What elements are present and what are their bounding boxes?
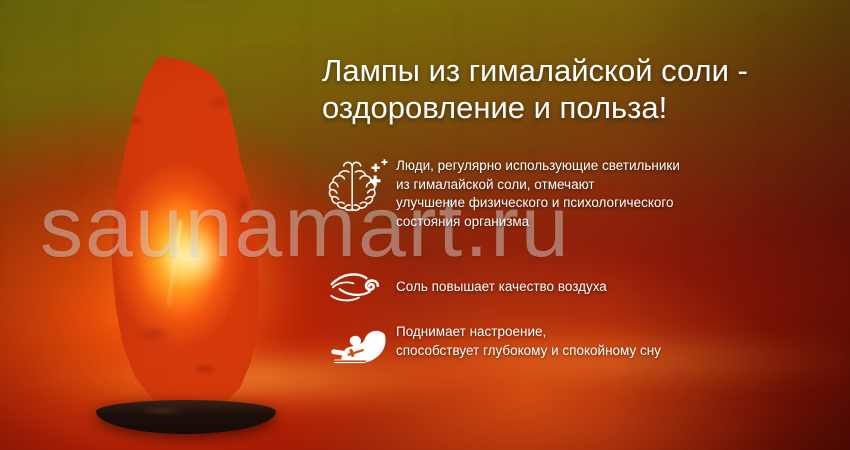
feature-item-air: Соль повышает качество воздуха (318, 266, 607, 308)
feature-health-line-2: из гималайской соли, отмечают (396, 176, 680, 195)
feature-item-sleep: Поднимает настроение, способствует глубо… (318, 322, 661, 376)
feature-text-sleep: Поднимает настроение, способствует глубо… (396, 322, 661, 360)
headline-line-1: Лампы из гималайской соли - (322, 52, 850, 89)
feature-health-line-4: состояния организма (396, 213, 680, 232)
page-title: Лампы из гималайской соли - оздоровление… (322, 52, 850, 126)
wind-swirl-icon (318, 266, 396, 308)
feature-health-line-1: Люди, регулярно использующие светильники (396, 157, 680, 176)
headline-line-2: оздоровление и польза! (322, 89, 850, 126)
feature-sleep-line-1: Поднимает настроение, (396, 323, 661, 342)
feature-air-line-1: Соль повышает качество воздуха (396, 278, 607, 297)
content-column: Лампы из гималайской соли - оздоровление… (318, 0, 850, 450)
feature-health-line-3: улучшение физического и психологического (396, 194, 680, 213)
brain-plus-icon (318, 156, 396, 220)
promo-banner: saunamart.ru Лампы из гималайской соли -… (0, 0, 850, 450)
sleeping-person-icon (318, 322, 396, 376)
feature-item-health: Люди, регулярно использующие светильники… (318, 156, 680, 231)
feature-text-air: Соль повышает качество воздуха (396, 277, 607, 297)
feature-sleep-line-2: способствует глубокому и спокойному сну (396, 342, 661, 361)
feature-text-health: Люди, регулярно использующие светильники… (396, 156, 680, 231)
